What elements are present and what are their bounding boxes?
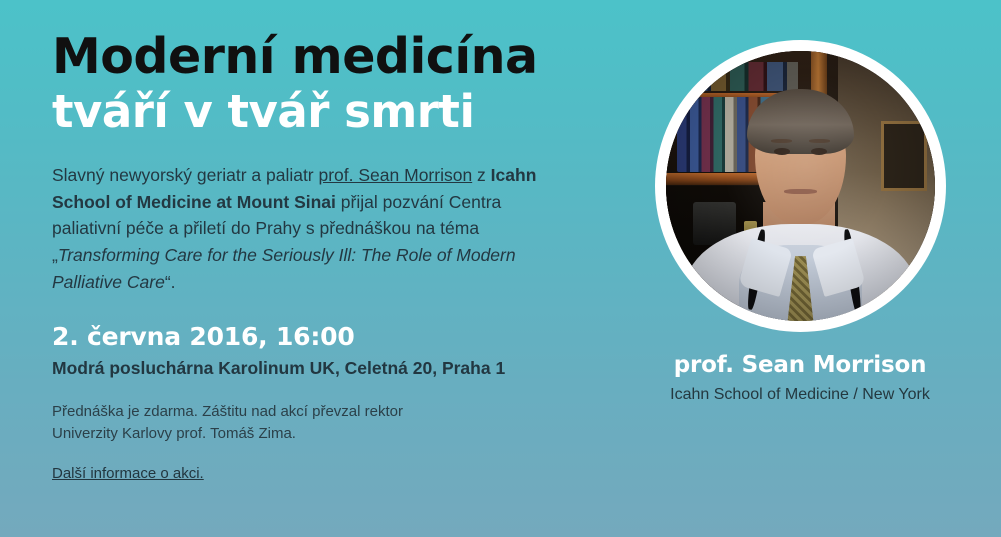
speaker-avatar	[655, 40, 946, 332]
event-date-time: 2. června 2016, 16:00	[52, 322, 612, 351]
page-title-line-2: tváří v tvář smrti	[52, 89, 612, 136]
event-note-line-1: Přednáška je zdarma. Záštitu nad akcí př…	[52, 401, 612, 424]
event-note: Přednáška je zdarma. Záštitu nad akcí př…	[52, 401, 612, 446]
more-info-link[interactable]: Další informace o akci.	[52, 465, 204, 482]
intro-segment-1: Slavný newyorský geriatr a paliatr	[52, 165, 319, 185]
event-venue: Modrá posluchárna Karolinum UK, Celetná …	[52, 358, 612, 379]
event-poster: Moderní medicína tváří v tvář smrti Slav…	[0, 0, 1001, 537]
lecture-title: Transforming Care for the Seriously Ill:…	[52, 245, 516, 292]
intro-paragraph: Slavný newyorský geriatr a paliatr prof.…	[52, 162, 552, 296]
speaker-photo	[666, 51, 935, 321]
speaker-name: prof. Sean Morrison	[600, 352, 1000, 378]
photo-vignette	[666, 51, 935, 321]
intro-segment-4: “.	[165, 272, 176, 292]
poster-text-column: Moderní medicína tváří v tvář smrti Slav…	[52, 32, 612, 483]
event-note-line-2: Univerzity Karlovy prof. Tomáš Zima.	[52, 423, 612, 446]
intro-segment-2: z	[472, 165, 490, 185]
speaker-affiliation: Icahn School of Medicine / New York	[600, 386, 1000, 404]
speaker-profile-link[interactable]: prof. Sean Morrison	[319, 165, 473, 185]
page-title-line-1: Moderní medicína	[52, 32, 612, 83]
